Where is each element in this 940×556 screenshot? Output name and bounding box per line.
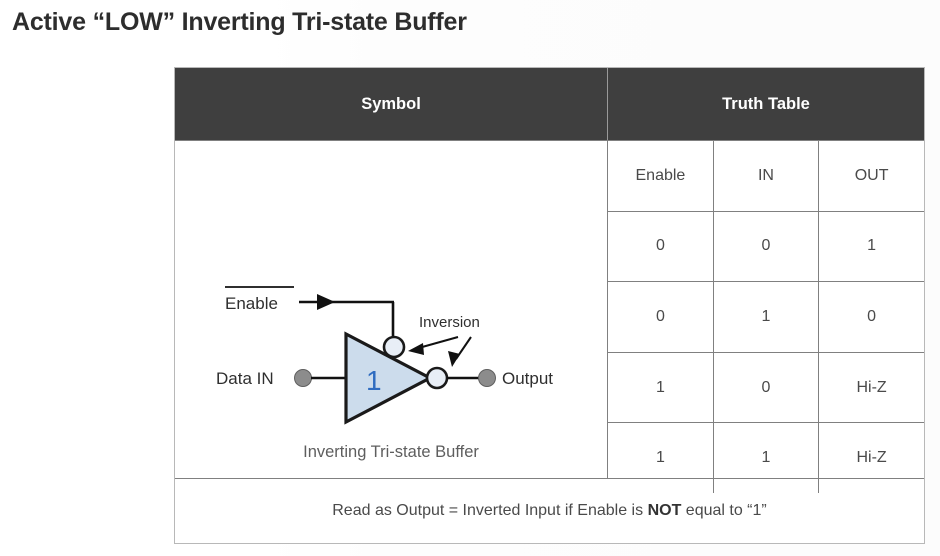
header-cell-symbol: Symbol [175, 68, 608, 140]
cell-out: 0 [819, 282, 924, 353]
enable-inversion-bubble [384, 337, 404, 357]
truth-table-cell: Enable IN OUT 0 0 1 0 1 0 [608, 140, 924, 478]
table-row: 0 0 1 [608, 211, 924, 282]
data-in-label: Data IN [216, 369, 274, 388]
truth-col-in: IN [713, 141, 818, 211]
symbol-cell: Enable Data IN 1 [175, 140, 608, 478]
cell-in: 0 [713, 352, 818, 423]
output-pin-dot [479, 370, 496, 387]
symbol-caption: Inverting Tri-state Buffer [175, 443, 607, 462]
truth-col-out: OUT [819, 141, 924, 211]
cell-out: 1 [819, 211, 924, 282]
inversion-arrow-to-enable-bubble-head [408, 343, 424, 355]
table-row: 1 1 Hi-Z [608, 423, 924, 493]
tristate-buffer-symbol-diagram: Enable Data IN 1 [175, 141, 608, 479]
table-row: 0 1 0 [608, 282, 924, 353]
footer-emphasis: NOT [648, 502, 682, 519]
cell-enable: 0 [608, 211, 713, 282]
output-inversion-bubble [427, 368, 447, 388]
cell-enable: 1 [608, 352, 713, 423]
cell-out: Hi-Z [819, 423, 924, 493]
cell-out: Hi-Z [819, 352, 924, 423]
cell-in: 1 [713, 282, 818, 353]
page-title: Active “LOW” Inverting Tri-state Buffer [12, 8, 467, 37]
enable-label: Enable [225, 294, 278, 313]
enable-arrowhead [317, 294, 335, 310]
data-in-pin-dot [295, 370, 312, 387]
table-header-row: Symbol Truth Table [175, 68, 924, 140]
inversion-arrow-to-output-bubble-head [448, 351, 460, 367]
cell-in: 0 [713, 211, 818, 282]
inversion-label: Inversion [419, 314, 480, 331]
cell-enable: 0 [608, 282, 713, 353]
footer-note: Read as Output = Inverted Input if Enabl… [332, 502, 766, 520]
table-body-row: Enable Data IN 1 [175, 140, 924, 478]
cell-in: 1 [713, 423, 818, 493]
truth-table: Enable IN OUT 0 0 1 0 1 0 [608, 141, 924, 493]
gate-glyph-1: 1 [366, 365, 382, 396]
footer-text-before: Read as Output = Inverted Input if Enabl… [332, 502, 647, 519]
figure-table: Symbol Truth Table Enable Data IN [174, 67, 925, 544]
truth-col-enable: Enable [608, 141, 713, 211]
output-label: Output [502, 369, 553, 388]
header-cell-truth-table: Truth Table [608, 68, 924, 140]
footer-text-after: equal to “1” [681, 502, 766, 519]
table-row: 1 0 Hi-Z [608, 352, 924, 423]
truth-table-header-row: Enable IN OUT [608, 141, 924, 211]
cell-enable: 1 [608, 423, 713, 493]
